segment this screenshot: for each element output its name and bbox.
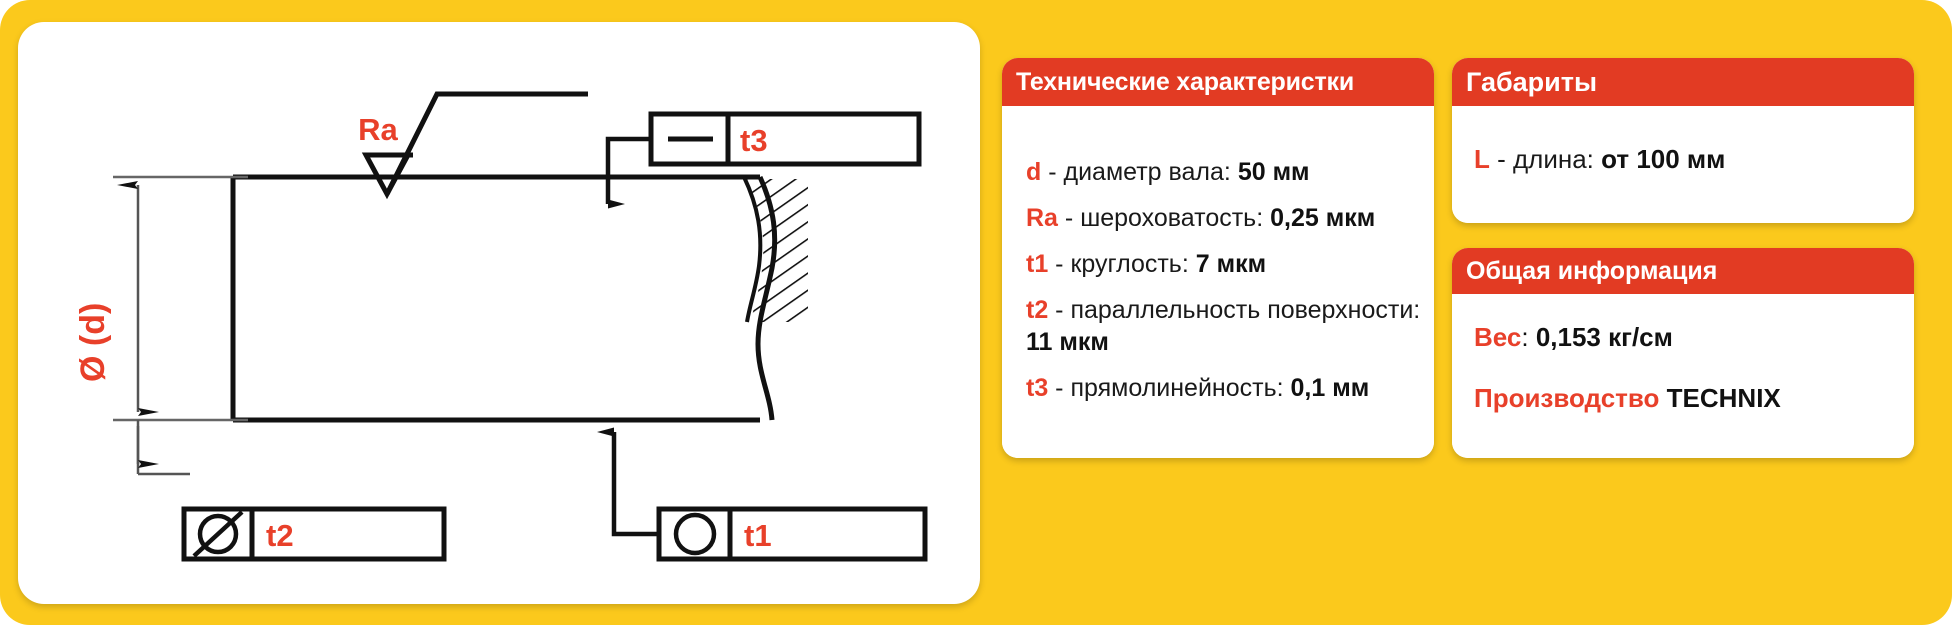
specs-area: Технические характеристки d - диаметр ва… [994, 22, 1934, 604]
technical-characteristics-header: Технические характеристки [1002, 58, 1434, 106]
technical-characteristics-card: Технические характеристки d - диаметр ва… [1002, 58, 1434, 458]
technical-drawing-panel: Ø (d) Ra t3 [18, 22, 980, 604]
spec-value: 0,1 мм [1291, 374, 1370, 402]
spec-list: d - диаметр вала: 50 мм Ra - шероховатос… [1026, 156, 1424, 404]
production-label: Производство [1474, 383, 1659, 413]
t2-label: t2 [266, 518, 294, 553]
general-information-card: Общая информация Вес: 0,153 кг/см Произв… [1452, 248, 1914, 458]
dimension-separator: - [1490, 144, 1513, 174]
spec-value: 7 мкм [1196, 250, 1266, 278]
spec-name: параллельность поверхности: [1070, 296, 1420, 324]
spec-separator: - [1041, 158, 1063, 186]
dimension-length-row: L - длина: от 100 мм [1474, 144, 1904, 175]
t3-leader-line [608, 139, 651, 204]
weight-row: Вес: 0,153 кг/см [1474, 322, 1904, 353]
production-value: TECHNIX [1667, 383, 1781, 413]
weight-value: 0,153 кг/см [1536, 322, 1673, 352]
spec-symbol: Ra [1026, 204, 1058, 232]
t3-label: t3 [740, 123, 768, 158]
dimension-value: от 100 мм [1601, 144, 1725, 174]
spec-value: 0,25 мкм [1270, 204, 1375, 232]
general-information-header: Общая информация [1452, 248, 1914, 294]
spec-symbol: t1 [1026, 250, 1048, 278]
spec-name: диаметр вала: [1064, 158, 1238, 186]
weight-label: Вес [1474, 322, 1521, 352]
infographic-card: Ø (d) Ra t3 [0, 0, 1952, 625]
t1-label: t1 [744, 518, 772, 553]
dimensions-body: L - длина: от 100 мм [1452, 106, 1914, 223]
dimension-name: длина: [1513, 144, 1601, 174]
spec-item-d: d - диаметр вала: 50 мм [1026, 156, 1424, 188]
dimension-symbol: L [1474, 144, 1490, 174]
t2-feature-frame: t2 [184, 509, 444, 559]
spec-separator: - [1048, 296, 1070, 324]
t3-feature-frame: t3 [651, 114, 919, 164]
spec-item-ra: Ra - шероховатость: 0,25 мкм [1026, 202, 1424, 234]
spec-separator: - [1048, 374, 1070, 402]
t1-feature-frame: t1 [659, 509, 925, 559]
spec-name: шероховатость: [1080, 204, 1270, 232]
spec-name: прямолинейность: [1070, 374, 1290, 402]
spec-separator: - [1048, 250, 1070, 278]
weight-separator: : [1521, 322, 1535, 352]
spec-symbol: t3 [1026, 374, 1048, 402]
t1-leader-line [614, 432, 659, 534]
spec-item-t3: t3 - прямолинейность: 0,1 мм [1026, 372, 1424, 404]
spec-name: круглость: [1070, 250, 1195, 278]
technical-characteristics-body: d - диаметр вала: 50 мм Ra - шероховатос… [1002, 106, 1434, 458]
shaft-drawing-svg: Ø (d) Ra t3 [18, 22, 980, 604]
spec-value: 50 мм [1238, 158, 1310, 186]
dimensions-header: Габариты [1452, 58, 1914, 106]
roughness-label: Ra [358, 112, 398, 147]
spec-symbol: t2 [1026, 296, 1048, 324]
spec-separator: - [1058, 204, 1080, 232]
diameter-label: Ø (d) [74, 303, 112, 382]
dimensions-card: Габариты L - длина: от 100 мм [1452, 58, 1914, 223]
spec-value: 11 мкм [1026, 328, 1109, 356]
production-row: Производство TECHNIX [1474, 383, 1904, 414]
general-information-body: Вес: 0,153 кг/см Производство TECHNIX [1452, 294, 1914, 458]
spec-item-t1: t1 - круглость: 7 мкм [1026, 248, 1424, 280]
spec-item-t2: t2 - параллельность поверхности: 11 мкм [1026, 294, 1424, 358]
production-separator [1659, 383, 1666, 413]
spec-symbol: d [1026, 158, 1041, 186]
